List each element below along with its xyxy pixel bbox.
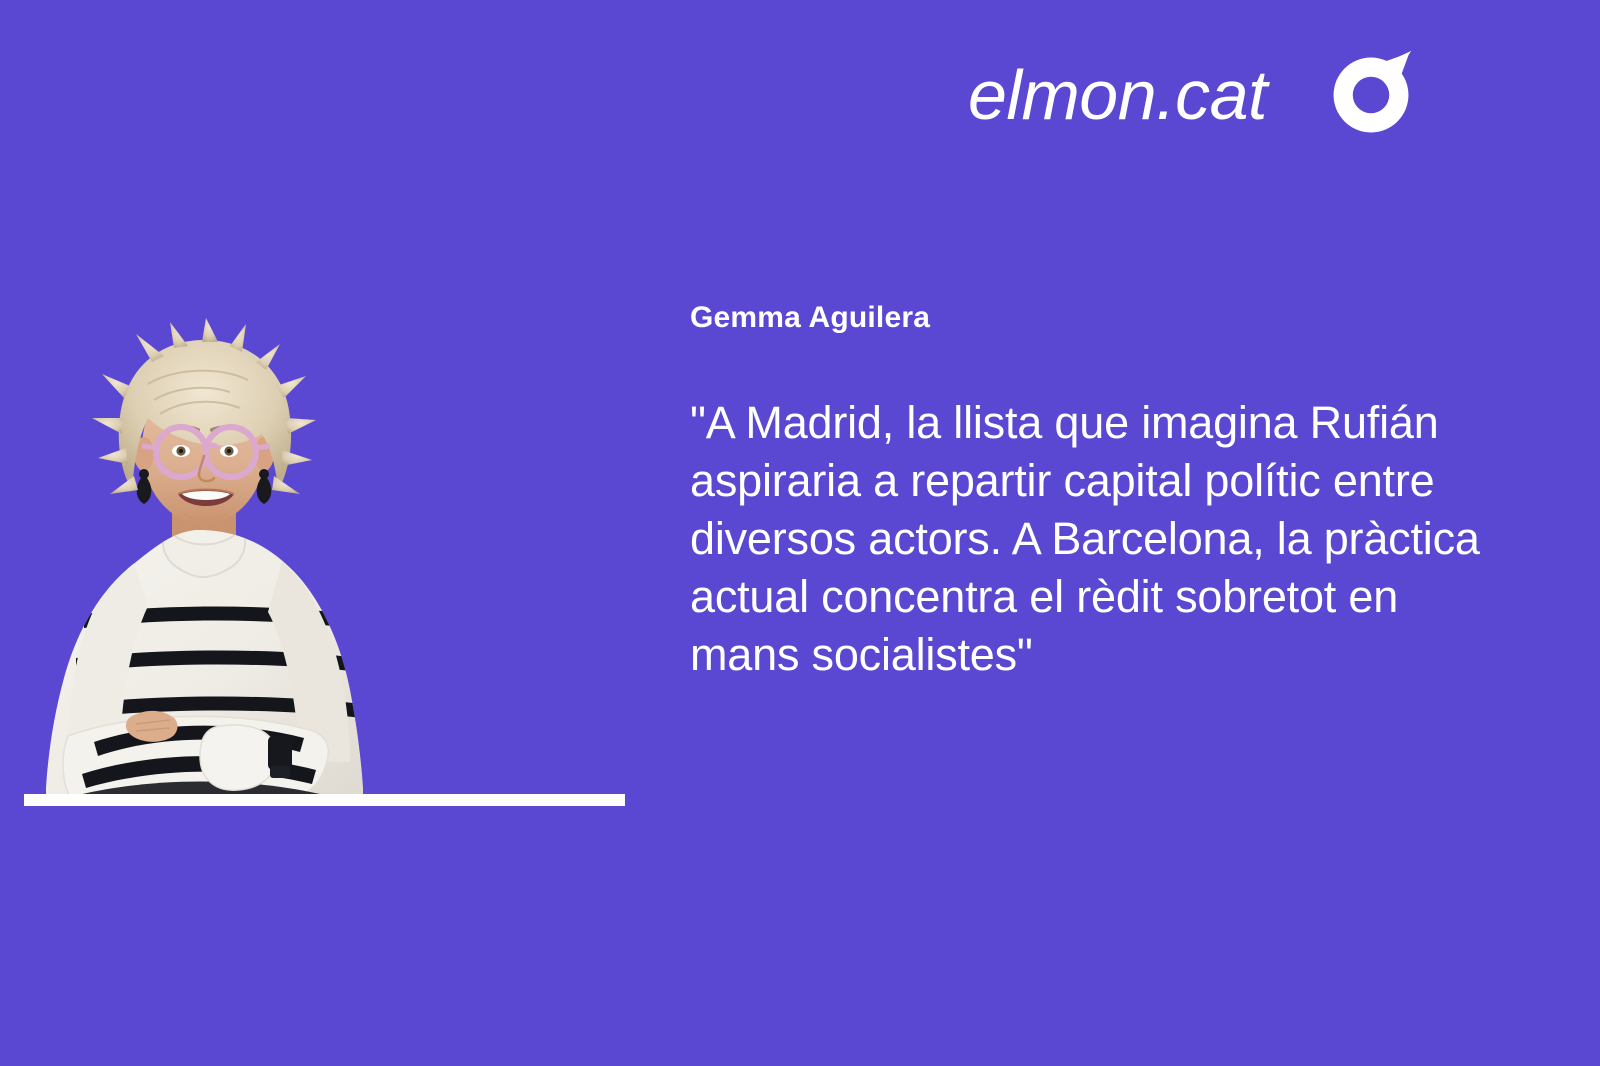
brand-header: elmon.cat: [968, 40, 1480, 150]
quote-text: "A Madrid, la llista que imagina Rufián …: [690, 394, 1490, 684]
author-byline: Gemma Aguilera: [690, 300, 1490, 336]
portrait-photo: [24, 318, 384, 800]
sweater: [24, 518, 384, 800]
portrait-baseline-bar: [24, 794, 625, 806]
earring-right: [259, 469, 269, 479]
head: [92, 318, 316, 524]
brand-wordmark: elmon.cat: [968, 60, 1267, 130]
quote-text-block: Gemma Aguilera "A Madrid, la llista que …: [690, 300, 1490, 684]
smartwatch: [268, 736, 292, 770]
quote-card: elmon.cat: [0, 0, 1600, 1066]
earring-left: [139, 469, 149, 479]
circle-with-tail-icon: [1323, 47, 1419, 143]
